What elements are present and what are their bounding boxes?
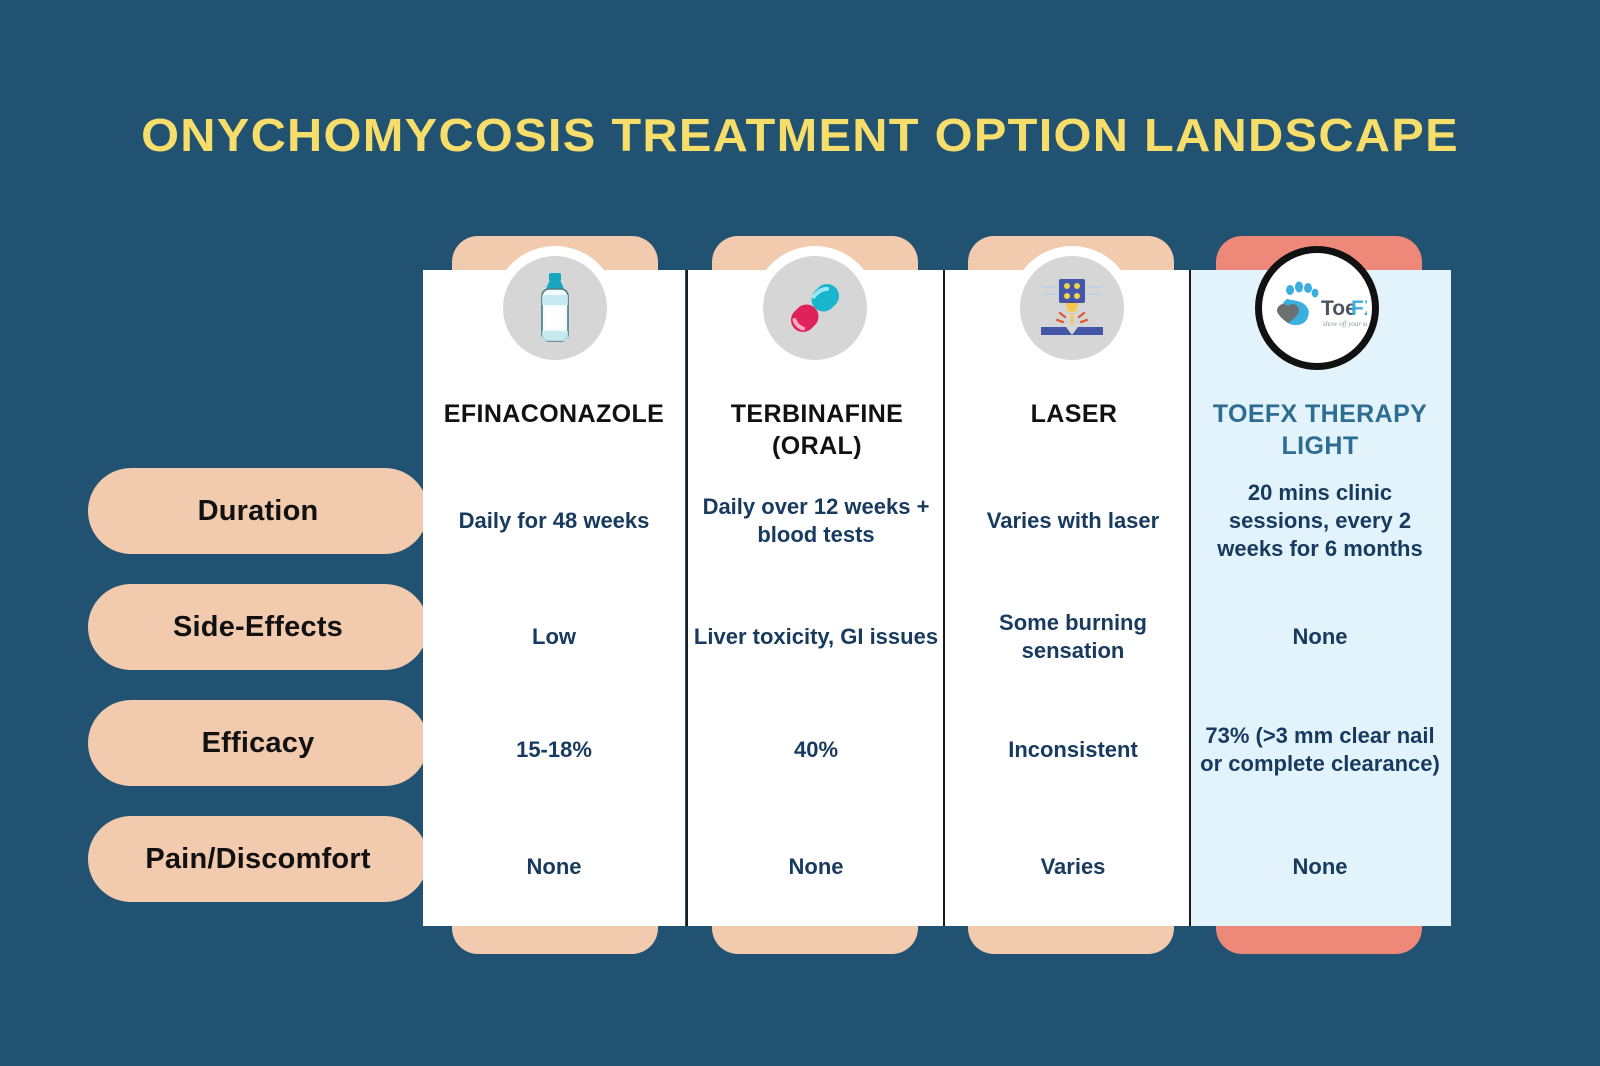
cell-text: None — [1196, 623, 1444, 651]
cell-terbinafine-duration: Daily over 12 weeks + blood tests — [692, 466, 940, 576]
cell-text: 40% — [692, 736, 940, 764]
cell-text: Liver toxicity, GI issues — [692, 623, 940, 651]
cell-efinaconazole-pain: None — [430, 812, 678, 922]
cell-toefx-efficacy: 73% (>3 mm clear nail or complete cleara… — [1196, 695, 1444, 805]
cell-laser-side-effects: Some burning sensation — [949, 582, 1197, 692]
svg-text:FX: FX — [1351, 297, 1367, 320]
cell-text: Inconsistent — [949, 736, 1197, 764]
cell-text: 15-18% — [430, 736, 678, 764]
logo-tagline: show off your sandals — [1323, 320, 1367, 328]
column-header-laser: LASER — [943, 398, 1205, 430]
icon-badge-laser — [1010, 246, 1134, 370]
cell-text: None — [430, 853, 678, 881]
cell-efinaconazole-efficacy: 15-18% — [430, 695, 678, 805]
row-label-duration: Duration — [88, 468, 428, 554]
icon-badge-terbinafine — [753, 246, 877, 370]
cell-terbinafine-efficacy: 40% — [692, 695, 940, 805]
cell-laser-pain: Varies — [949, 812, 1197, 922]
cell-text: None — [1196, 853, 1444, 881]
row-label-efficacy: Efficacy — [88, 700, 428, 786]
cell-text: Daily over 12 weeks + blood tests — [692, 493, 940, 549]
column-header-terbinafine: TERBINAFINE (ORAL) — [686, 398, 948, 462]
column-header-toefx: TOEFX THERAPY LIGHT — [1189, 398, 1451, 462]
laser-machine-icon — [1020, 256, 1124, 360]
dropper-bottle-icon — [503, 256, 607, 360]
icon-badge-toefx: Toe FX show off your sandals — [1255, 246, 1379, 370]
page-title: ONYCHOMYCOSIS TREATMENT OPTION LANDSCAPE — [0, 108, 1600, 162]
capsule-pill-icon — [763, 256, 867, 360]
cell-efinaconazole-duration: Daily for 48 weeks — [430, 466, 678, 576]
cell-toefx-pain: None — [1196, 812, 1444, 922]
cell-laser-efficacy: Inconsistent — [949, 695, 1197, 805]
cell-toefx-side-effects: None — [1196, 582, 1444, 692]
cell-terbinafine-side-effects: Liver toxicity, GI issues — [692, 582, 940, 692]
row-label-pain-discomfort: Pain/Discomfort — [88, 816, 428, 902]
cell-text: Varies with laser — [949, 507, 1197, 535]
cell-text: 73% (>3 mm clear nail or complete cleara… — [1196, 722, 1444, 778]
cell-text: Some burning sensation — [949, 609, 1197, 665]
column-header-efinaconazole: EFINACONAZOLE — [423, 398, 685, 430]
cell-toefx-duration: 20 mins clinic sessions, every 2 weeks f… — [1196, 466, 1444, 576]
cell-text: Low — [430, 623, 678, 651]
cell-text: Varies — [949, 853, 1197, 881]
row-label-side-effects: Side-Effects — [88, 584, 428, 670]
cell-efinaconazole-side-effects: Low — [430, 582, 678, 692]
cell-text: None — [692, 853, 940, 881]
cell-text: 20 mins clinic sessions, every 2 weeks f… — [1196, 479, 1444, 563]
cell-terbinafine-pain: None — [692, 812, 940, 922]
cell-text: Daily for 48 weeks — [430, 507, 678, 535]
toefx-logo-icon: Toe FX show off your sandals — [1255, 246, 1379, 370]
icon-badge-efinaconazole — [493, 246, 617, 370]
cell-laser-duration: Varies with laser — [949, 466, 1197, 576]
